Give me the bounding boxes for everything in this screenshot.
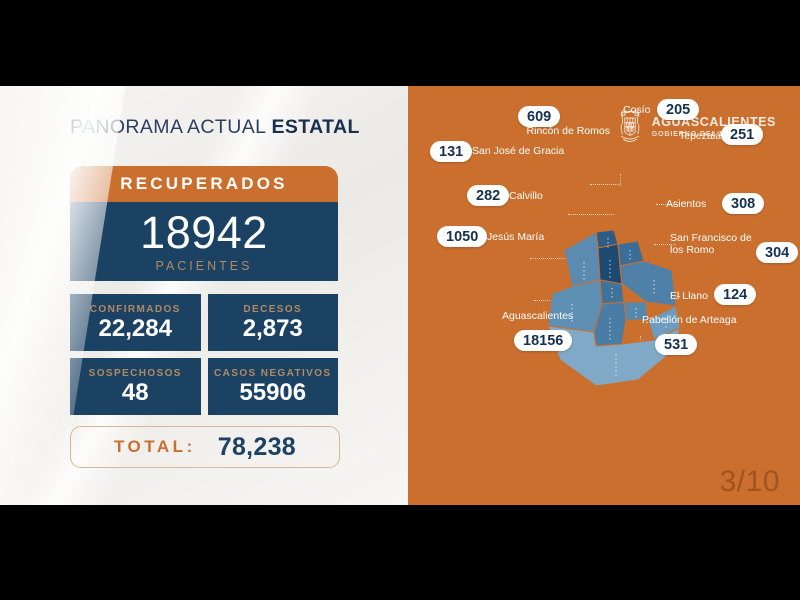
value-pill-el-llano: 124 [714,284,756,305]
stat-label: DECESOS [243,304,302,315]
slide-content: PANORAMA ACTUAL ESTATAL RECUPERADOS 1894… [0,86,800,505]
value-pill-pabellon-de-arteaga: 531 [655,334,697,355]
recuperados-label: RECUPERADOS [120,174,287,194]
value-pill-tepezala: 251 [721,124,763,145]
map-label-tepezala: Tepezalá [679,130,721,142]
page-title-bold: ESTATAL [271,116,359,138]
map-label-el-llano: El Llano [670,290,708,302]
map-region-asientos [620,261,676,306]
stat-card-confirmados: CONFIRMADOS 22,284 [70,294,201,351]
map-label-san-francisco-de-los-romo: San Francisco de los Romo [670,232,756,256]
map-label-jesus-maria: Jesús María [487,231,544,243]
recuperados-sublabel: PACIENTES [156,259,253,273]
map-label-pabellon-de-arteaga: Pabellón de Arteaga [642,314,737,326]
map-panel: AGUASCALIENTES GOBIERNO DEL ESTADO [408,86,800,505]
stat-value: 22,284 [99,317,172,341]
leader-line [620,174,621,186]
statistics-panel: PANORAMA ACTUAL ESTATAL RECUPERADOS 1894… [0,86,408,505]
map-label-san-jose-de-gracia: San José de Gracia [472,145,564,157]
stat-label: SOSPECHOSOS [89,368,182,379]
value-pill-san-jose-de-gracia: 131 [430,141,472,162]
stat-label: CASOS NEGATIVOS [214,368,332,379]
map-label-rincon-de-romos: Rincón de Romos [482,125,610,137]
value-pill-jesus-maria: 1050 [437,226,487,247]
slide-canvas: PANORAMA ACTUAL ESTATAL RECUPERADOS 1894… [0,0,800,600]
page-indicator: 3/10 [720,465,780,499]
value-pill-cosio: 205 [657,99,699,120]
page-title: PANORAMA ACTUAL ESTATAL [70,116,360,139]
value-pill-san-francisco-de-los-romo: 304 [756,242,798,263]
stat-value: 48 [122,381,149,405]
recuperados-body: 18942 PACIENTES [70,202,338,281]
stat-value: 55906 [239,381,306,405]
map-label-aguascalientes: Aguascalientes [502,310,573,322]
map-region-san-jose-de-gracia [564,232,600,286]
map-label-calvillo: Calvillo [509,190,543,202]
total-value: 78,238 [218,433,296,462]
map-label-cosio: Cosío [623,104,650,116]
letterbox-bottom [0,505,800,600]
value-pill-rincon-de-romos: 609 [518,106,560,127]
stat-label: CONFIRMADOS [90,304,181,315]
total-bar: TOTAL: 78,238 [70,426,340,468]
recuperados-card: RECUPERADOS 18942 PACIENTES [70,166,338,281]
total-label: TOTAL: [114,437,196,457]
recuperados-value: 18942 [140,210,268,255]
leader-line [568,214,614,215]
stat-card-casos-negativos: CASOS NEGATIVOS 55906 [208,358,339,415]
letterbox-top [0,0,800,86]
stat-value: 2,873 [243,317,303,341]
page-title-thin: PANORAMA ACTUAL [70,116,271,138]
map-region-calvillo [548,280,602,332]
value-pill-aguascalientes: 18156 [514,330,572,351]
map-label-asientos: Asientos [666,198,706,210]
recuperados-header: RECUPERADOS [70,166,338,202]
stat-card-sospechosos: SOSPECHOSOS 48 [70,358,201,415]
value-pill-calvillo: 282 [467,185,509,206]
stat-card-decesos: DECESOS 2,873 [208,294,339,351]
stat-grid: CONFIRMADOS 22,284 DECESOS 2,873 SOSPECH… [70,294,338,415]
leader-line [590,184,620,185]
value-pill-asientos: 308 [722,193,764,214]
